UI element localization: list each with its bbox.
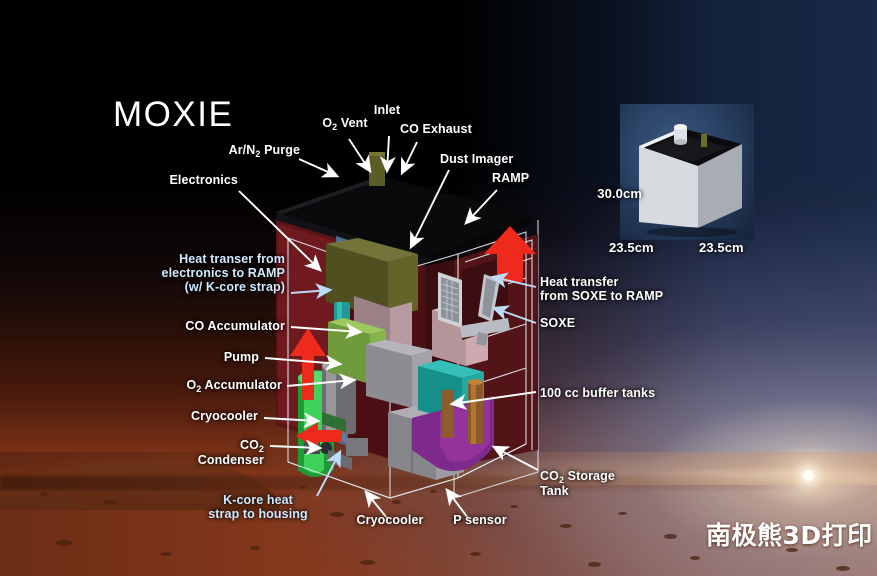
label-ar-n2-purge: Ar/N2 Purge: [170, 143, 300, 158]
sun-icon: [803, 470, 814, 481]
label-cryocooler-left: Cryocooler: [158, 409, 258, 423]
label-co2-condenser: CO2 Condenser: [168, 438, 264, 467]
page-title: MOXIE: [113, 95, 233, 135]
dimension-height-label: 30.0cm: [576, 187, 642, 201]
label-buffer-tanks: 100 cc buffer tanks: [540, 386, 700, 400]
mars-moxie-diagram: MOXIE 30.0cm 23.5cm 23.5cm: [0, 0, 877, 576]
label-ramp: RAMP: [492, 171, 562, 185]
label-o2-vent: O2 Vent: [310, 116, 380, 131]
label-co-accumulator: CO Accumulator: [140, 319, 285, 333]
label-soxe: SOXE: [540, 316, 610, 330]
label-pump: Pump: [175, 350, 259, 364]
watermark: 南极熊3D打印: [706, 516, 873, 552]
label-dust-imager: Dust Imager: [440, 152, 560, 166]
label-heat-transfer-electronics: Heat transer from electronics to RAMP (w…: [130, 252, 285, 294]
label-heat-transfer-soxe: Heat transfer from SOXE to RAMP: [540, 275, 710, 303]
moxie-cutaway-assembly: [262, 150, 562, 510]
label-cryocooler-bottom: Cryocooler: [350, 513, 430, 527]
label-inlet: Inlet: [355, 103, 419, 117]
label-p-sensor: P sensor: [444, 513, 516, 527]
label-kcore-strap: K-core heat strap to housing: [198, 493, 318, 521]
dimension-width-left-label: 23.5cm: [609, 241, 679, 255]
dimension-width-right-label: 23.5cm: [699, 241, 769, 255]
module-inset-drawing: [620, 104, 754, 240]
label-o2-accumulator: O2 Accumulator: [148, 378, 282, 393]
label-electronics: Electronics: [120, 173, 238, 187]
label-co-exhaust: CO Exhaust: [400, 122, 510, 136]
label-co2-storage-tank: CO2 Storage Tank: [540, 469, 650, 498]
